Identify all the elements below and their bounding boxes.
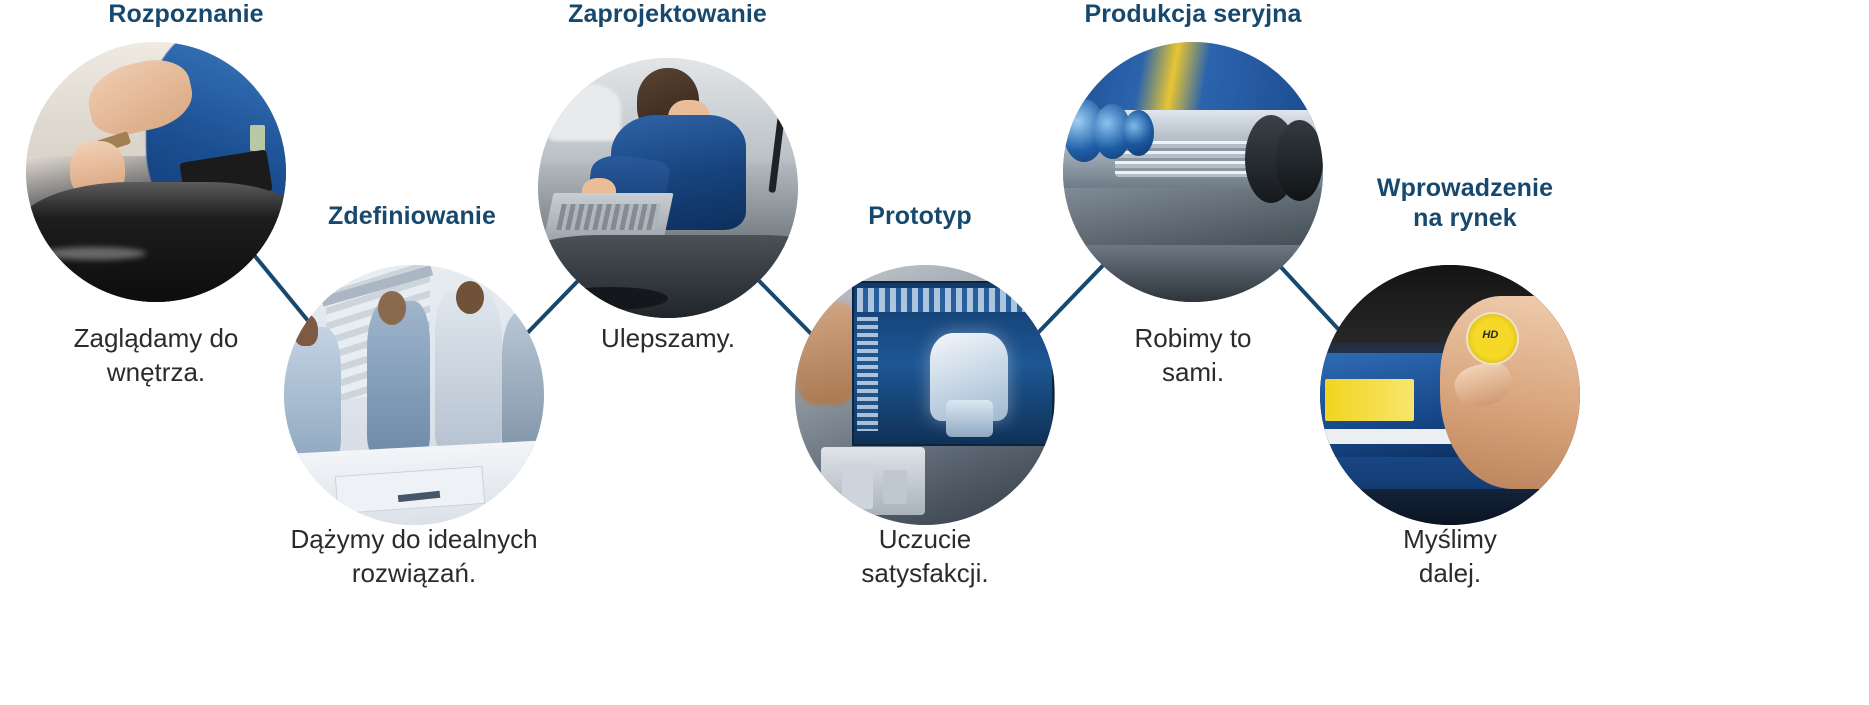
step-photo-zaprojektowanie[interactable] xyxy=(538,58,798,318)
photo-naklejanie-hologramu: HD HD xyxy=(1320,265,1580,525)
step-caption-prototyp: Uczucie satysfakcji. xyxy=(775,523,1075,591)
step-caption-produkcja-seryjna: Robimy to sami. xyxy=(1043,322,1343,390)
photo-linia-produkcyjna xyxy=(1063,42,1323,302)
step-title-produkcja-seryjna: Produkcja seryjna xyxy=(1018,0,1368,30)
step-caption-zaprojektowanie: Ulepszamy. xyxy=(518,322,818,356)
photo-ekran-cad xyxy=(795,265,1055,525)
step-caption-zdefiniowanie: Dążymy do idealnych rozwiązań. xyxy=(244,523,584,591)
photo-zespol-przy-stole xyxy=(284,265,544,525)
step-caption-wprowadzenie-na-rynek: Myślimy dalej. xyxy=(1300,523,1600,591)
step-title-zaprojektowanie: Zaprojektowanie xyxy=(515,0,820,30)
step-title-wprowadzenie-na-rynek: Wprowadzenie na rynek xyxy=(1290,174,1640,233)
step-photo-wprowadzenie-na-rynek[interactable]: HD HD xyxy=(1320,265,1580,525)
step-photo-prototyp[interactable] xyxy=(795,265,1055,525)
process-infographic: Rozpoznanie Zaglądamy do wnętrza. Zdefin… xyxy=(0,0,1869,705)
step-photo-produkcja-seryjna[interactable] xyxy=(1063,42,1323,302)
step-title-prototyp: Prototyp xyxy=(800,202,1040,232)
photo-mechanik-pod-maska xyxy=(26,42,286,302)
step-photo-rozpoznanie[interactable] xyxy=(26,42,286,302)
step-title-zdefiniowanie: Zdefiniowanie xyxy=(262,202,562,232)
step-photo-zdefiniowanie[interactable] xyxy=(284,265,544,525)
step-caption-rozpoznanie: Zaglądamy do wnętrza. xyxy=(6,322,306,390)
step-title-rozpoznanie: Rozpoznanie xyxy=(26,0,346,30)
sticker-label-top: HD xyxy=(1466,330,1515,341)
photo-mechanik-z-laptopem xyxy=(538,58,798,318)
